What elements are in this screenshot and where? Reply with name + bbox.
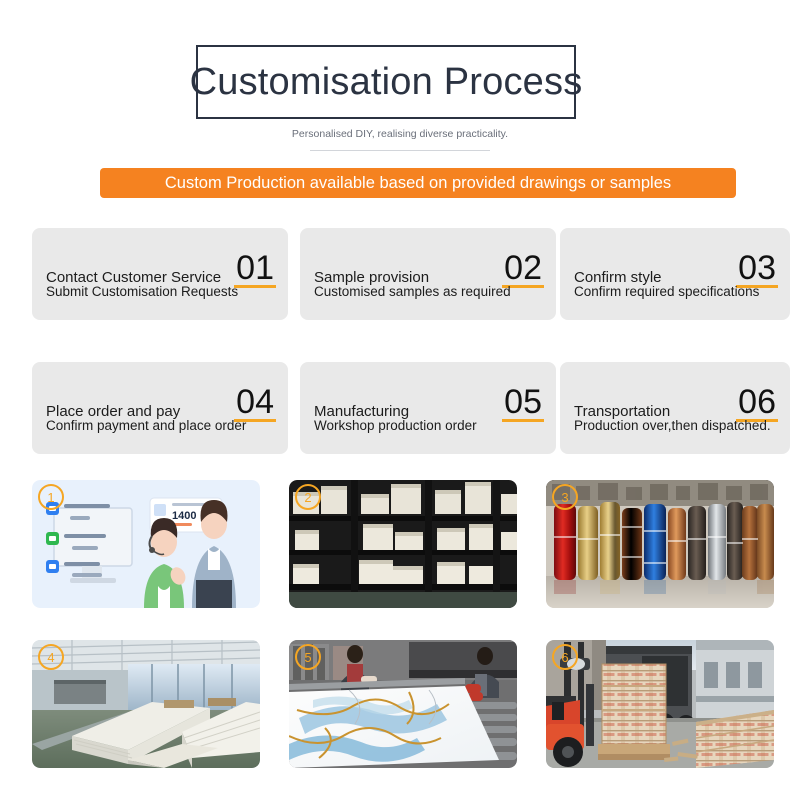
step-card-04: Place order and pay 04 Confirm payment a… [32,362,288,454]
step-card-03-number: 03 [736,254,778,288]
customisation-process-infographic: Customisation Process Personalised DIY, … [0,0,800,800]
gallery-tile-6: 6 [546,640,774,768]
gallery-badge-2: 2 [295,484,321,510]
factory-panel-production [32,640,260,768]
step-card-03-subtitle: Confirm required specifications [574,284,780,299]
subtitle-divider [310,150,490,151]
metallic-foil-rolls [546,480,774,608]
forklift-loading-cartons [546,640,774,768]
gallery-tile-1: 1400 1 [32,480,260,608]
gallery-tile-2: 2 [289,480,517,608]
gallery-badge-3: 3 [552,484,578,510]
page-subtitle: Personalised DIY, realising diverse prac… [0,128,800,140]
sample-warehouse-shelving [289,480,517,608]
gallery-tile-5: 5 [289,640,517,768]
gallery-tile-4: 4 [32,640,260,768]
step-card-06: Transportation 06 Production over,then d… [560,362,790,454]
banner-label: Custom Production available based on pro… [165,174,671,193]
gallery-tile-3: 3 [546,480,774,608]
step-card-04-header: Place order and pay 04 [46,388,276,422]
step-card-01-header: Contact Customer Service 01 [46,254,276,288]
custom-production-banner: Custom Production available based on pro… [100,168,736,198]
step-card-06-subtitle: Production over,then dispatched. [574,418,780,433]
step-card-01-number: 01 [234,254,276,288]
marble-pattern-sheet-line [289,640,517,768]
step-card-05-number: 05 [502,388,544,422]
step-card-06-header: Transportation 06 [574,388,778,422]
step-card-03: Confirm style 03 Confirm required specif… [560,228,790,320]
svg-text:1400: 1400 [172,510,196,522]
step-card-03-header: Confirm style 03 [574,254,778,288]
step-card-01: Contact Customer Service 01 Submit Custo… [32,228,288,320]
gallery-badge-5: 5 [295,644,321,670]
step-card-06-number: 06 [736,388,778,422]
gallery-badge-1: 1 [38,484,64,510]
page-title-box: Customisation Process [196,45,576,119]
step-card-02-subtitle: Customised samples as required [314,284,546,299]
gallery-badge-4: 4 [38,644,64,670]
step-card-05: Manufacturing 05 Workshop production ord… [300,362,556,454]
customer-service-illustration: 1400 [32,480,260,608]
step-card-02-header: Sample provision 02 [314,254,544,288]
page-title: Customisation Process [190,61,583,104]
step-card-05-header: Manufacturing 05 [314,388,544,422]
step-card-02-number: 02 [502,254,544,288]
step-card-01-subtitle: Submit Customisation Requests [46,284,278,299]
step-card-04-subtitle: Confirm payment and place order [46,418,278,433]
step-card-04-number: 04 [234,388,276,422]
step-card-02: Sample provision 02 Customised samples a… [300,228,556,320]
gallery-badge-6: 6 [552,644,578,670]
step-card-05-subtitle: Workshop production order [314,418,546,433]
